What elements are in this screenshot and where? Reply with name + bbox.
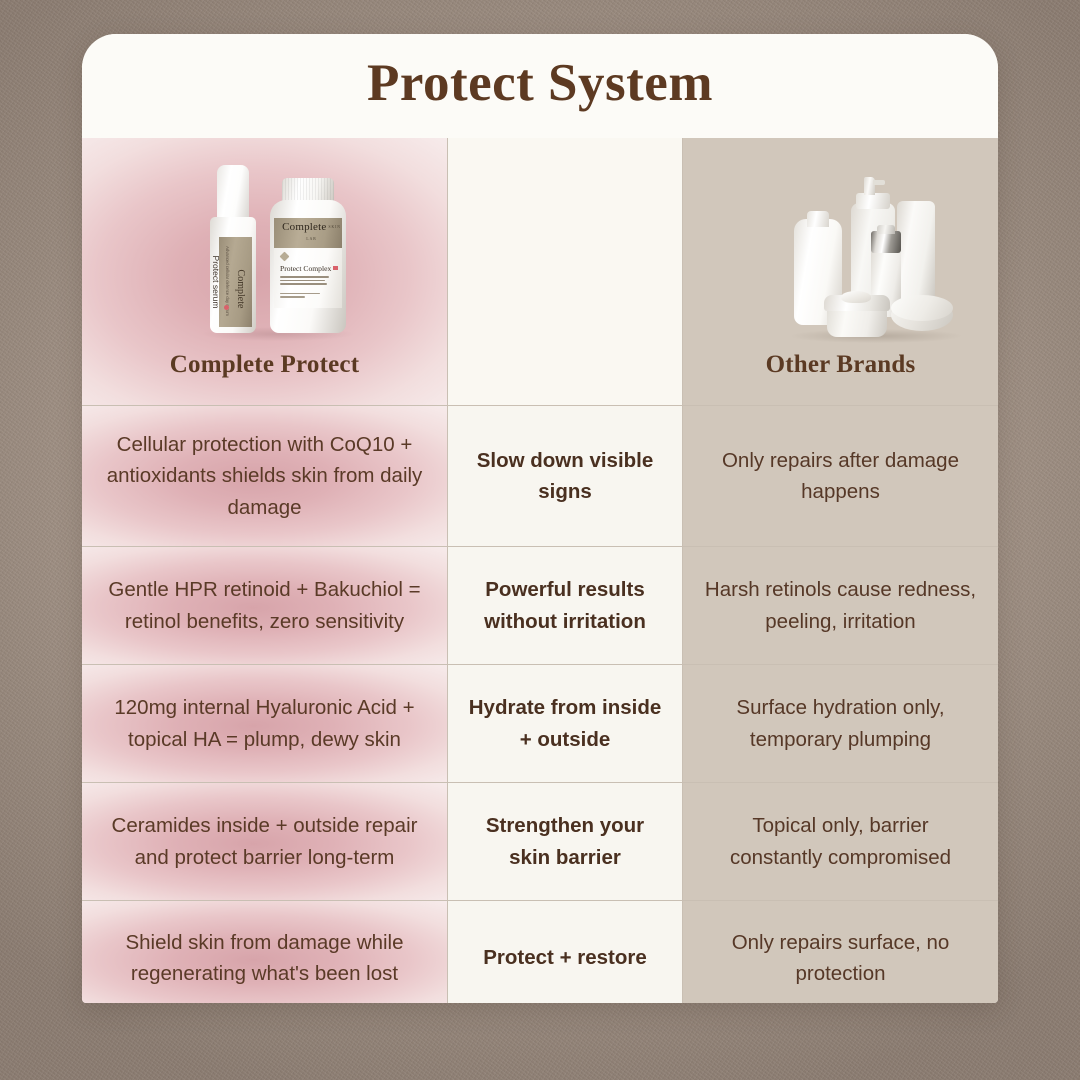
supplement-label: Protect Complex [274,248,342,308]
hexagon-icon [280,252,290,262]
cell-others-4: Only repairs surface, no protection [705,927,977,989]
complete-products-stage: Protect serum Advanced cellular defence … [98,148,431,351]
header-cell-complete: Protect serum Advanced cellular defence … [82,138,448,406]
table-row: Powerful results without irritation [448,547,683,665]
spray-bottle-collar [856,193,890,209]
supplement-brand-name: CompleteSKIN LAB [281,221,342,245]
table-row: Protect + restore [448,901,683,1003]
table-row: Strengthen your skin barrier [448,783,683,901]
complete-product-group: Protect serum Advanced cellular defence … [98,148,431,351]
protect-serum-bottle-image: Protect serum Advanced cellular defence … [210,165,256,333]
table-row: Harsh retinols cause redness, peeling, i… [683,547,998,665]
cell-others-0: Only repairs after damage happens [705,445,977,507]
cell-others-2: Surface hydration only, temporary plumpi… [705,692,977,754]
serum-label-name: Protect serum [208,241,221,323]
cell-complete-1: Gentle HPR retinoid + Bakuchiol = retino… [98,574,431,636]
cell-benefit-3: Strengthen your skin barrier [464,810,666,872]
column-header-others: Other Brands [766,351,916,379]
cream-jar-swirl [841,291,871,303]
cell-benefit-0: Slow down visible signs [464,445,666,507]
benefit-header-spacer [464,148,666,379]
cell-others-1: Harsh retinols cause redness, peeling, i… [705,574,977,636]
supplement-footer-lines [280,293,336,298]
cream-tube-image [897,201,935,301]
title-band: Protect System [82,34,998,138]
other-products-stage [699,148,982,351]
compact-disc-top [891,295,953,321]
table-row: Ceramides inside + outside repair and pr… [82,783,448,901]
cell-complete-0: Cellular protection with CoQ10 + antioxi… [98,429,431,522]
cell-complete-2: 120mg internal Hyaluronic Acid + topical… [98,692,431,754]
serum-label: Protect serum Advanced cellular defence … [219,237,252,327]
table-row: Only repairs after damage happens [683,406,998,547]
serum-label-brand: Complete [234,257,246,321]
comparison-grid: Protect serum Advanced cellular defence … [82,138,998,1003]
accent-square-icon [333,266,338,271]
table-row: Gentle HPR retinoid + Bakuchiol = retino… [82,547,448,665]
cell-benefit-1: Powerful results without irritation [464,574,666,636]
header-cell-benefit [448,138,683,406]
comparison-card: Protect System Protect serum Advanced ce… [82,34,998,1003]
supplement-description-lines [280,276,336,285]
supplement-product-text: Protect Complex [280,264,331,273]
cell-complete-4: Shield skin from damage while regenerati… [98,927,431,989]
table-row: Cellular protection with CoQ10 + antioxi… [82,406,448,547]
cell-others-3: Topical only, barrier constantly comprom… [705,810,977,872]
table-row: Surface hydration only, temporary plumpi… [683,665,998,783]
table-row: Topical only, barrier constantly comprom… [683,783,998,901]
table-row: Shield skin from damage while regenerati… [82,901,448,1003]
other-product-group [699,148,982,351]
cell-benefit-2: Hydrate from inside + outside [464,692,666,754]
serum-pump-cap [217,165,249,223]
protect-complex-bottle-image: CompleteSKIN LAB Protect Complex [270,178,346,333]
supplement-product-name: Protect Complex [280,264,336,273]
supplement-brand-band: CompleteSKIN LAB [274,218,342,248]
page-title: Protect System [367,57,713,116]
airless-pump-top [877,225,895,234]
header-cell-others: Other Brands [683,138,998,406]
supplement-brand-text: Complete [282,221,326,233]
lotion-bottle-neck [807,211,829,227]
spray-bottle-tip [873,180,885,185]
table-row: 120mg internal Hyaluronic Acid + topical… [82,665,448,783]
column-header-complete: Complete Protect [170,351,359,379]
table-row: Hydrate from inside + outside [448,665,683,783]
table-row: Slow down visible signs [448,406,683,547]
serum-accent-dot [224,305,229,310]
cell-benefit-4: Protect + restore [483,942,647,973]
airless-pump-silver-collar [871,231,901,253]
table-row: Only repairs surface, no protection [683,901,998,1003]
cell-complete-3: Ceramides inside + outside repair and pr… [98,810,431,872]
